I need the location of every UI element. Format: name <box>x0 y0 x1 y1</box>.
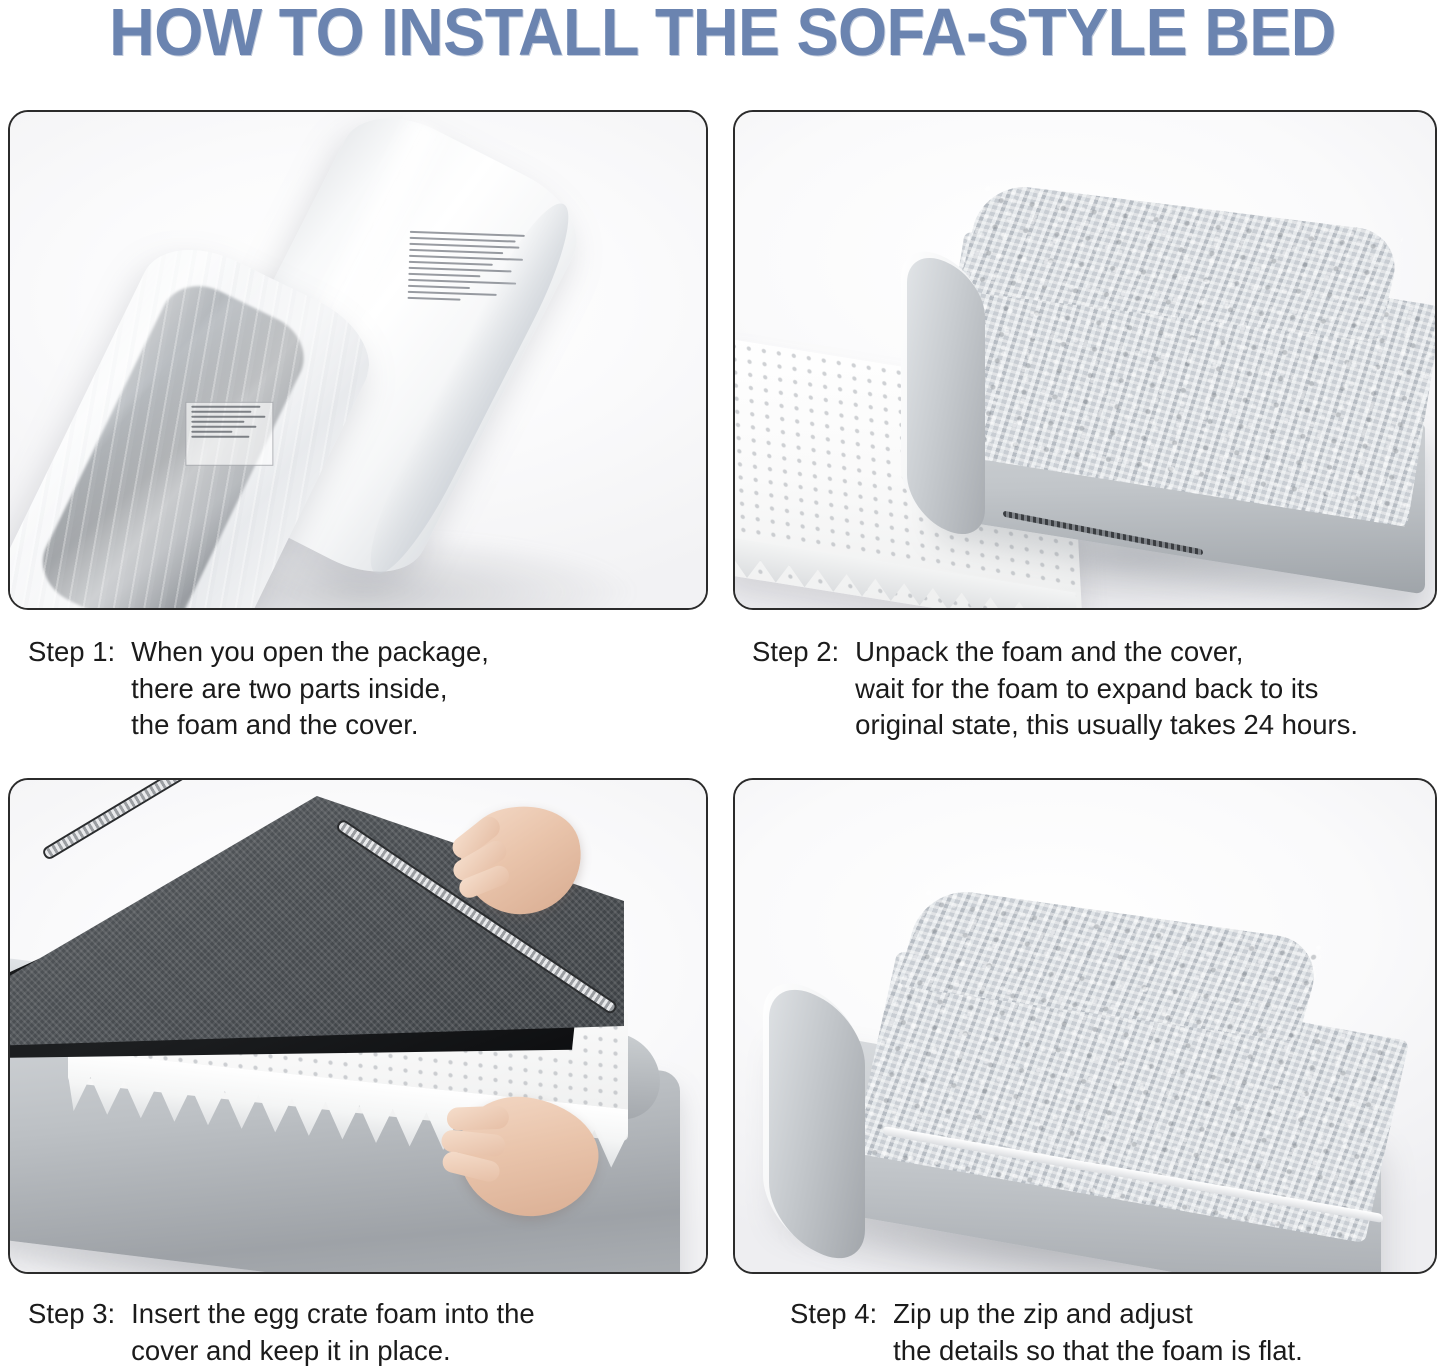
step-1-label: Step 1: <box>28 634 115 671</box>
finger <box>447 1106 510 1131</box>
step-2-caption: Step 2: Unpack the foam and the cover, w… <box>752 634 1358 744</box>
step-2-scene <box>735 112 1435 608</box>
step-4-caption: Step 4: Zip up the zip and adjust the de… <box>790 1296 1303 1369</box>
step-1-caption: Step 1: When you open the package, there… <box>28 634 489 744</box>
step-2-photo-panel <box>733 110 1437 610</box>
step-3-label: Step 3: <box>28 1296 115 1333</box>
step-3-text: Insert the egg crate foam into the cover… <box>131 1296 535 1369</box>
step-4-text: Zip up the zip and adjust the details so… <box>893 1296 1303 1369</box>
step-1-text: When you open the package, there are two… <box>131 634 489 744</box>
step-4-label: Step 4: <box>790 1296 877 1333</box>
step-2-text: Unpack the foam and the cover, wait for … <box>855 634 1358 744</box>
step-3-scene <box>10 780 706 1272</box>
step-1-photo-panel <box>8 110 708 610</box>
step-4-photo-panel <box>733 778 1437 1274</box>
velvet-armrest-bolster <box>907 245 985 548</box>
step-1-scene <box>10 112 706 608</box>
step-3-caption: Step 3: Insert the egg crate foam into t… <box>28 1296 535 1369</box>
finished-sofa-bed <box>763 900 1383 1260</box>
page-title: HOW TO INSTALL THE SOFA-STYLE BED <box>43 0 1401 71</box>
step-4-scene <box>735 780 1435 1272</box>
step-2-label: Step 2: <box>752 634 839 671</box>
package-warning-label <box>186 402 274 466</box>
package-printed-text <box>407 226 530 306</box>
step-3-photo-panel <box>8 778 708 1274</box>
sofa-bed-cover <box>885 200 1425 600</box>
velvet-armrest-bolster <box>769 973 865 1274</box>
